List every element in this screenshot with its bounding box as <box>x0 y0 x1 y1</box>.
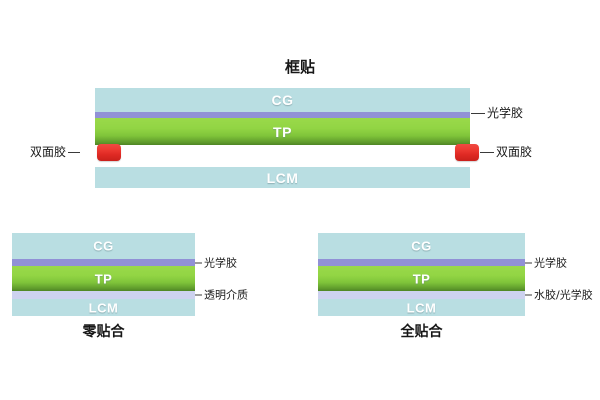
right-diagram: CG TP LCM 光学胶 水胶/光学胶 全贴合 <box>300 225 600 365</box>
right-layer-water-glue <box>318 291 525 299</box>
main-layer-tp: TP <box>95 118 470 145</box>
left-layer-tp-label: TP <box>12 272 195 285</box>
right-callout-optical: 光学胶 <box>525 258 567 269</box>
right-layer-optical-adhesive <box>318 259 525 266</box>
right-callout-water-glue: 水胶/光学胶 <box>525 290 593 301</box>
tape-block-right <box>455 144 479 161</box>
left-layer-tp: TP <box>12 266 195 291</box>
left-layer-lcm-label: LCM <box>12 301 195 314</box>
left-layer-cg: CG <box>12 233 195 259</box>
leader-line <box>195 295 202 296</box>
callout-right-optical: 光学胶 <box>471 107 523 119</box>
main-layer-air-gap <box>95 145 470 167</box>
left-callout-medium-label: 透明介质 <box>204 290 248 301</box>
callout-left-tape: 双面胶 <box>30 146 80 158</box>
leader-line <box>471 113 485 114</box>
callout-right-tape: 双面胶 <box>480 146 532 158</box>
right-callout-optical-label: 光学胶 <box>534 258 567 269</box>
right-layer-tp: TP <box>318 266 525 291</box>
main-diagram: CG TP LCM 双面胶 光学胶 <box>0 0 600 220</box>
tape-block-left <box>97 144 121 161</box>
leader-line <box>525 263 532 264</box>
leader-line <box>195 263 202 264</box>
left-layer-lcm: LCM <box>12 299 195 316</box>
callout-right-tape-label: 双面胶 <box>496 146 532 158</box>
right-callout-water-glue-label: 水胶/光学胶 <box>534 290 593 301</box>
left-layer-transparent-medium <box>12 291 195 299</box>
diagram-canvas: 框贴 CG TP LCM 双面胶 <box>0 0 600 400</box>
left-layer-optical-adhesive <box>12 259 195 266</box>
right-diagram-caption: 全贴合 <box>318 325 525 339</box>
main-layer-tp-label: TP <box>95 125 470 139</box>
main-layer-lcm-label: LCM <box>95 171 470 185</box>
left-layer-cg-label: CG <box>12 240 195 253</box>
leader-line <box>68 152 80 153</box>
leader-line <box>525 295 532 296</box>
main-layer-cg-label: CG <box>95 93 470 107</box>
main-stack: CG TP LCM <box>95 88 470 188</box>
right-layer-cg-label: CG <box>318 240 525 253</box>
left-diagram: CG TP LCM 光学胶 透明介质 零贴合 <box>0 225 300 365</box>
right-layer-cg: CG <box>318 233 525 259</box>
left-callout-medium: 透明介质 <box>195 290 248 301</box>
left-callout-optical: 光学胶 <box>195 258 237 269</box>
leader-line <box>480 152 494 153</box>
callout-right-optical-label: 光学胶 <box>487 107 523 119</box>
right-layer-tp-label: TP <box>318 272 525 285</box>
right-stack: CG TP LCM <box>318 233 525 316</box>
main-layer-lcm: LCM <box>95 167 470 188</box>
right-layer-lcm: LCM <box>318 299 525 316</box>
main-layer-cg: CG <box>95 88 470 112</box>
callout-left-tape-label: 双面胶 <box>30 146 66 158</box>
left-callout-optical-label: 光学胶 <box>204 258 237 269</box>
right-layer-lcm-label: LCM <box>318 301 525 314</box>
left-stack: CG TP LCM <box>12 233 195 316</box>
left-diagram-caption: 零贴合 <box>12 325 195 339</box>
